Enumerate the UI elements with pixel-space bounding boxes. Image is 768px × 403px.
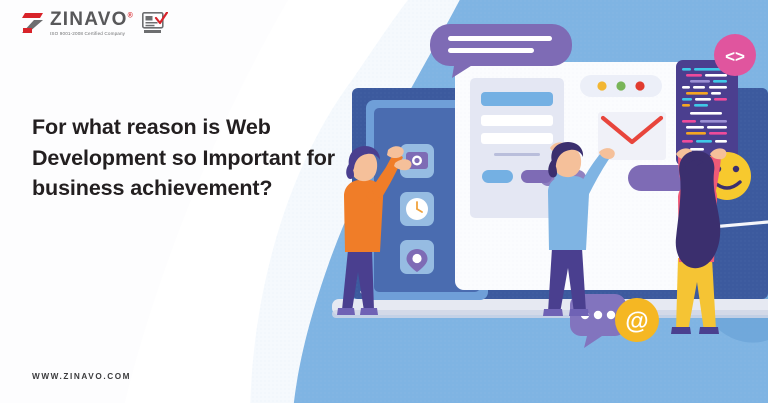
window-dot-yellow[interactable]	[597, 81, 606, 90]
code-brackets-badge-icon: <>	[714, 34, 756, 76]
form-header-bar	[481, 92, 553, 106]
svg-text:<>: <>	[725, 47, 745, 66]
at-sign-icon: @	[615, 298, 659, 342]
page-title: For what reason is Web Development so Im…	[32, 112, 342, 204]
zinavo-slash-mark-icon	[22, 11, 44, 35]
logo-wordmark: ZINAVO®	[50, 10, 134, 29]
tile-location-pin	[400, 240, 434, 274]
window-controls	[580, 75, 662, 97]
logo-trademark: ®	[128, 13, 134, 20]
svg-text:@: @	[625, 308, 648, 335]
form-input-field[interactable]	[481, 133, 553, 144]
logo[interactable]: ZINAVO® ISO 9001-2008 Certified Company	[22, 10, 168, 36]
form-input-field[interactable]	[481, 115, 553, 126]
tile-clock	[400, 192, 434, 226]
window-dot-green[interactable]	[616, 81, 625, 90]
form-primary-button[interactable]	[482, 170, 513, 183]
logo-text: ZINAVO® ISO 9001-2008 Certified Company	[50, 10, 134, 36]
window-dot-red[interactable]	[635, 81, 644, 90]
form-divider	[494, 153, 540, 156]
logo-tagline: ISO 9001-2008 Certified Company	[50, 32, 134, 37]
iso-certified-badge-icon	[142, 12, 168, 34]
logo-word-text: ZINAVO	[50, 9, 128, 30]
banner: <>	[0, 0, 768, 403]
website-url[interactable]: WWW.ZINAVO.COM	[32, 372, 131, 381]
